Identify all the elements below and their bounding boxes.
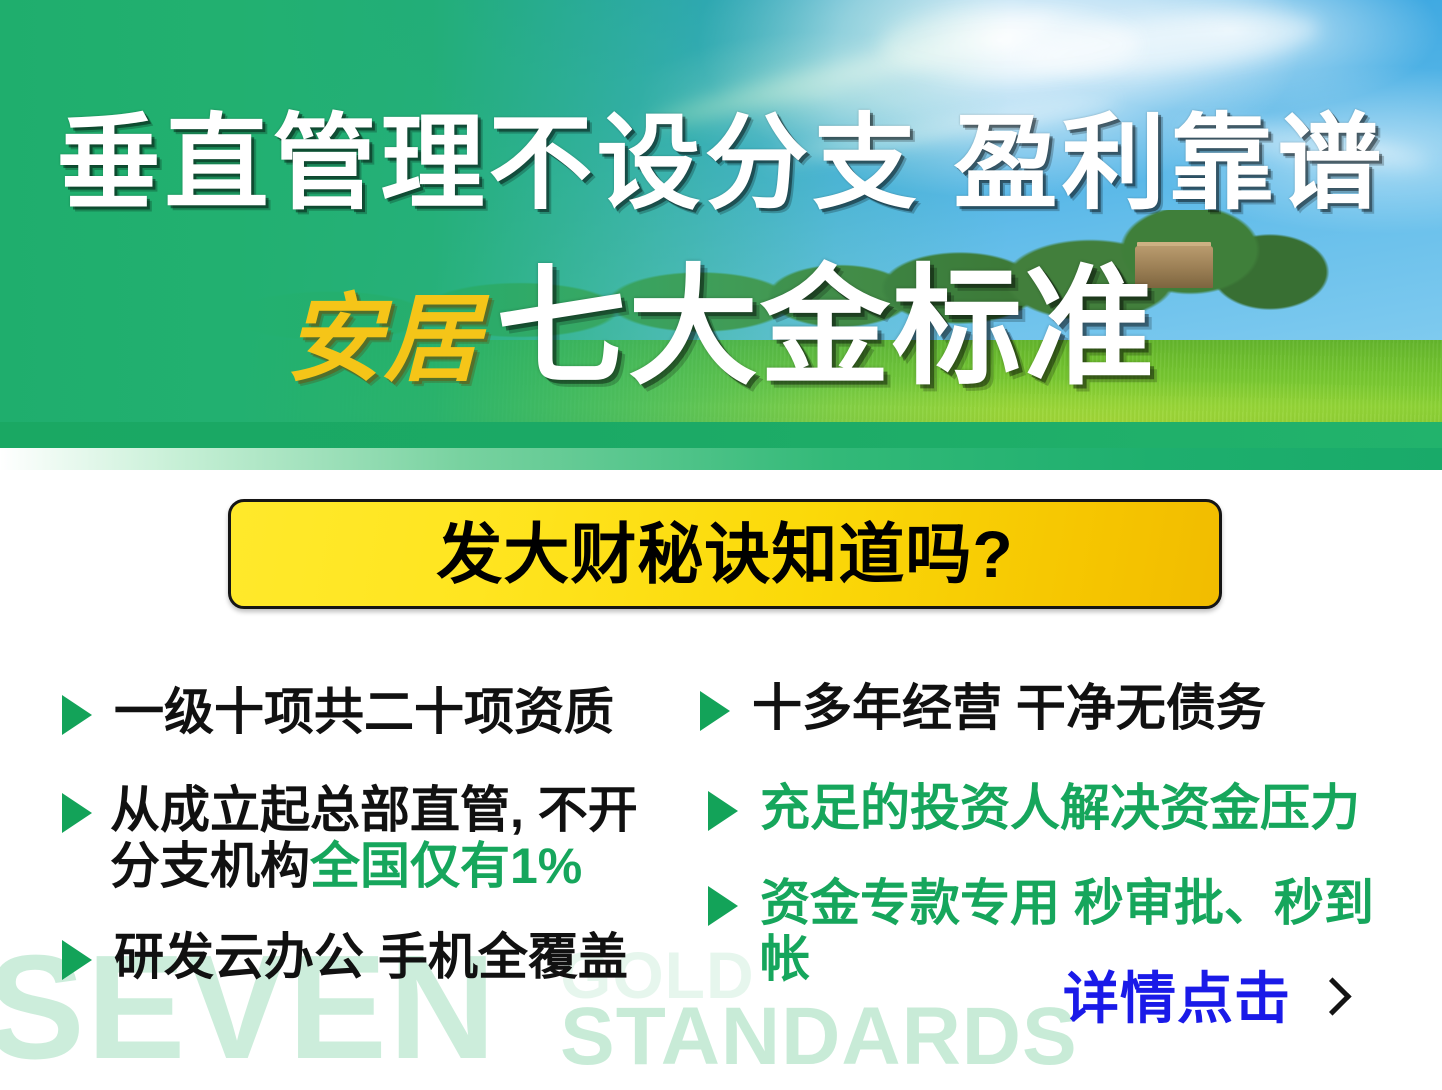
triangle-arrow-icon [708,791,738,831]
details-cta-link[interactable]: 详情点击 [1063,971,1341,1027]
feature-item-years-operating: 十多年经营 干净无债务 [700,680,1266,736]
triangle-arrow-icon [708,886,738,926]
triangle-arrow-icon [62,793,92,833]
hero-banner: 垂直管理不设分支 盈利靠谱 安居七大金标准 [0,0,1442,448]
feature-item-investors: 充足的投资人解决资金压力 [708,780,1360,836]
feature-text: 十多年经营 干净无债务 [752,680,1266,736]
feature-text: 从成立起总部直管, 不开 分支机构全国仅有1% [110,782,638,894]
feature-item-direct-management: 从成立起总部直管, 不开 分支机构全国仅有1% [62,782,638,894]
triangle-arrow-icon [62,695,92,735]
feature-text: 一级十项共二十项资质 [114,684,614,740]
feature-item-qualifications: 一级十项共二十项资质 [62,684,614,740]
feature-text: 研发云办公 手机全覆盖 [114,929,628,985]
headline-line-1: 垂直管理不设分支 盈利靠谱 [0,112,1442,216]
headline-seven-gold-standards: 七大金标准 [496,254,1156,400]
chevron-right-icon [1317,978,1341,1020]
headline-group: 垂直管理不设分支 盈利靠谱 安居七大金标准 [0,0,1442,448]
hero-reflection-strip [0,448,1442,470]
feature-text-line-1: 从成立起总部直管, 不开 [110,782,638,838]
feature-text-line-2-highlight: 全国仅有1% [310,838,582,894]
triangle-arrow-icon [62,940,92,980]
headline-line-2: 安居七大金标准 [0,262,1442,392]
details-cta-label: 详情点击 [1063,971,1291,1027]
feature-item-cloud-office: 研发云办公 手机全覆盖 [62,929,628,985]
question-banner-text: 发大财秘诀知道吗? [436,521,1013,587]
feature-list: 一级十项共二十项资质 从成立起总部直管, 不开 分支机构全国仅有1% 研发云办公… [0,648,1442,988]
triangle-arrow-icon [700,691,730,731]
headline-brand-anju: 安居 [286,286,482,393]
feature-text-line-2-plain: 分支机构 [110,838,310,894]
feature-text: 充足的投资人解决资金压力 [760,780,1360,836]
question-banner[interactable]: 发大财秘诀知道吗? [228,499,1222,609]
